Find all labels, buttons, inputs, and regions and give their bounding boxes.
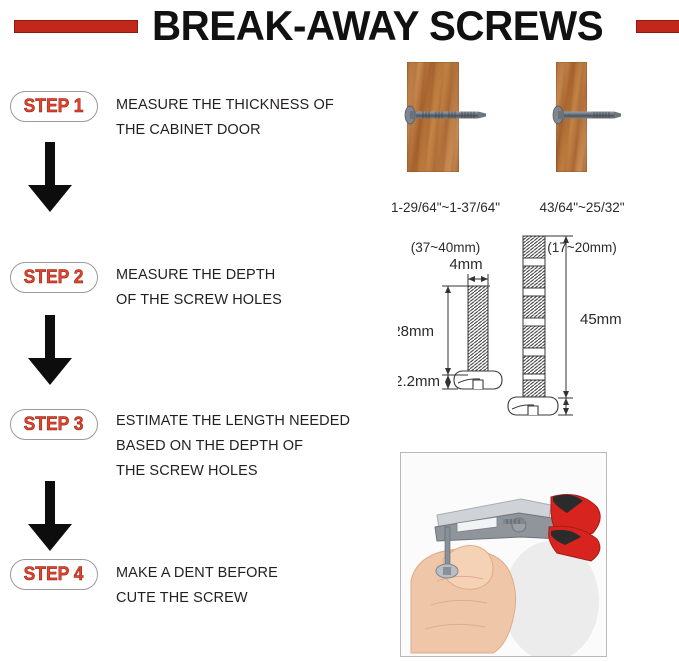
long-breakaway-screw-45mm [508, 236, 558, 415]
title-dash-right [636, 20, 679, 33]
screw-through-thick-panel [368, 100, 498, 130]
caption-thick-imperial: 1-29/64"~1-37/64" [368, 198, 523, 218]
step-1-text: MEASURE THE THICKNESS OF THE CABINET DOO… [116, 93, 366, 143]
step-2-text: MEASURE THE DEPTH OF THE SCREW HOLES [116, 263, 366, 313]
dimension-width-4mm [468, 274, 488, 286]
screw-in-jaws [503, 519, 525, 524]
caption-thin-imperial: 43/64"~25/32" [512, 198, 652, 218]
dimension-length-45mm [545, 236, 573, 415]
screw-through-thin-panel [530, 100, 640, 130]
infographic-page: BREAK-AWAY SCREWS STEP 1 MEASURE THE THI… [0, 0, 679, 662]
step-badge-3: STEP 3 [10, 409, 98, 440]
down-arrow-2 [22, 315, 78, 387]
title-dash-left [14, 20, 138, 33]
down-arrow-1 [22, 142, 78, 214]
step-badge-4-label: STEP 4 [24, 564, 84, 586]
down-arrow-3 [22, 481, 78, 553]
dimension-label-45mm: 45mm [580, 311, 622, 328]
dimension-label-4mm: 4mm [449, 256, 482, 273]
photo-dent-screw [400, 452, 607, 657]
step-4-text: MAKE A DENT BEFORE CUTE THE SCREW [116, 561, 366, 611]
step-badge-2-label: STEP 2 [24, 267, 84, 289]
page-header: BREAK-AWAY SCREWS [0, 0, 679, 52]
dimension-label-28mm: 28mm [398, 323, 434, 340]
hand-illustration [411, 546, 516, 654]
step-badge-1-label: STEP 1 [24, 96, 84, 118]
screw-dimension-drawing: 4mm 28mm 2.2mm [398, 228, 679, 433]
step-badge-4: STEP 4 [10, 559, 98, 590]
step-badge-3-label: STEP 3 [24, 414, 84, 436]
step-3-text: ESTIMATE THE LENGTH NEEDED BASED ON THE … [116, 409, 376, 484]
step-badge-1: STEP 1 [10, 91, 98, 122]
dimension-label-2-2mm: 2.2mm [398, 373, 440, 390]
short-screw-28mm [454, 286, 502, 389]
photo-illustration [401, 453, 606, 656]
page-title: BREAK-AWAY SCREWS [152, 5, 603, 47]
step-badge-2: STEP 2 [10, 262, 98, 293]
